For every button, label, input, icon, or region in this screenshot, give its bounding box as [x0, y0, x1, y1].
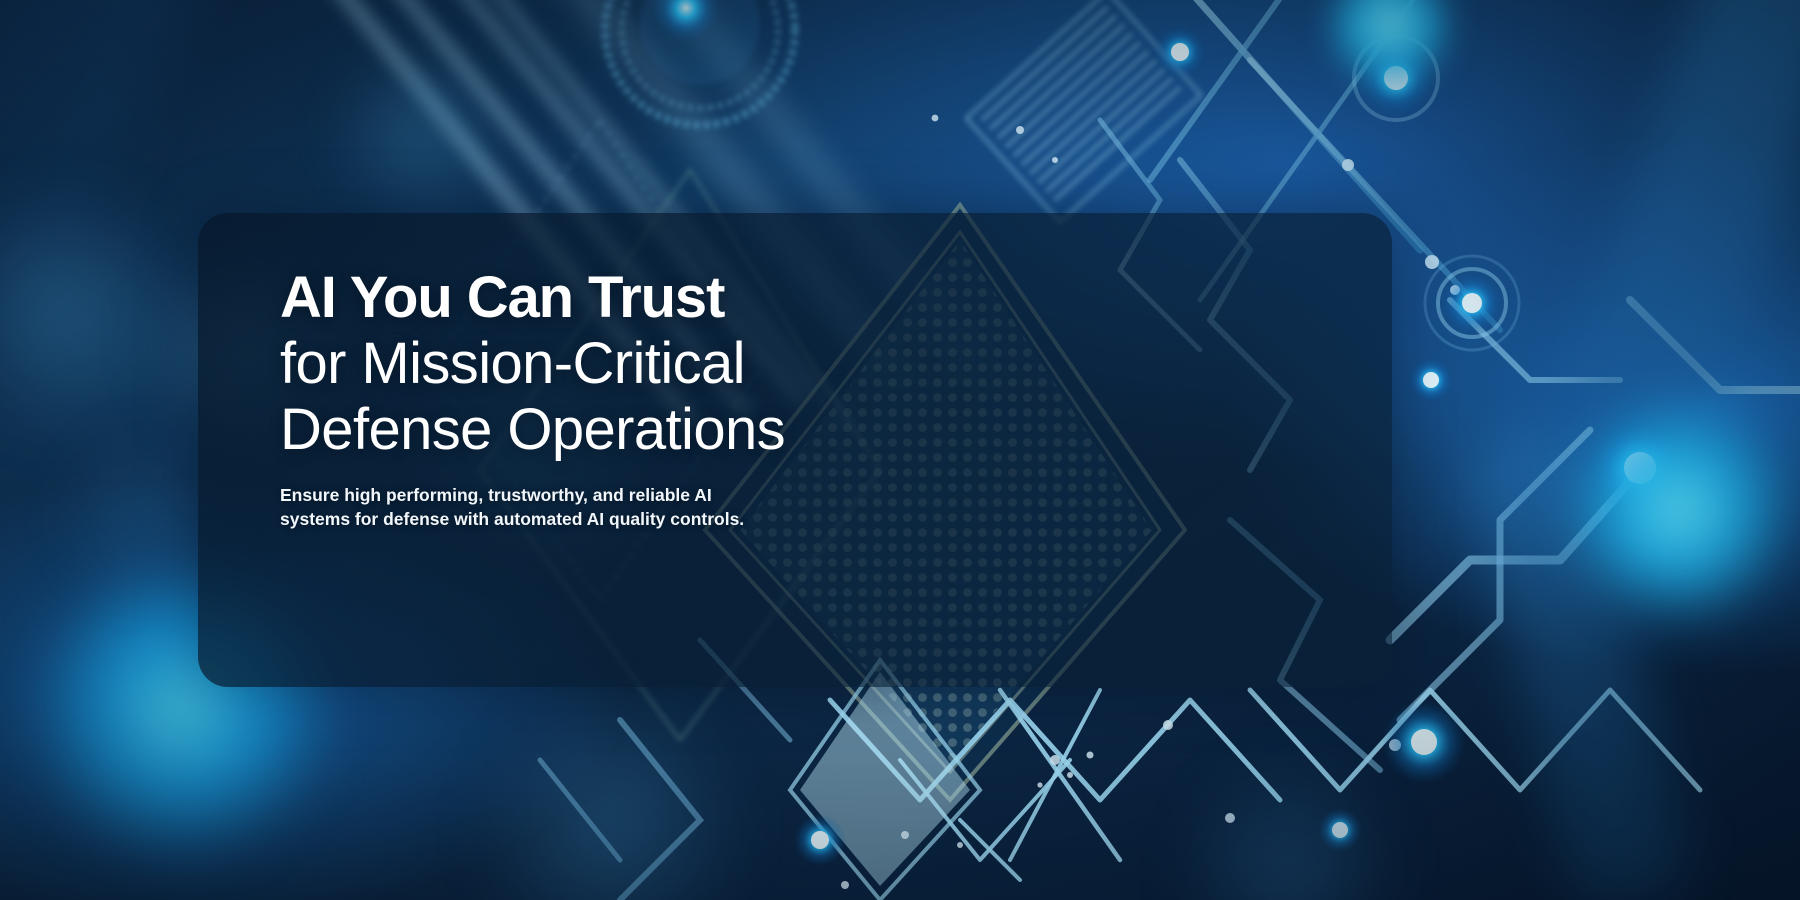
page-title: AI You Can Trust for Mission-Critical De… [280, 265, 1332, 463]
headline-line-2: for Mission-Critical [280, 331, 1332, 397]
headline-line-1: AI You Can Trust [280, 265, 1332, 331]
hero-text-card: AI You Can Trust for Mission-Critical De… [198, 213, 1392, 687]
hero-subheadline: Ensure high performing, trustworthy, and… [280, 483, 800, 531]
hero-card-content: AI You Can Trust for Mission-Critical De… [280, 265, 1332, 531]
headline-line-3: Defense Operations [280, 397, 1332, 463]
subheadline-line-2: systems for defense with automated AI qu… [280, 507, 800, 531]
subheadline-line-1: Ensure high performing, trustworthy, and… [280, 483, 800, 507]
hero-banner: AI You Can Trust for Mission-Critical De… [0, 0, 1800, 900]
